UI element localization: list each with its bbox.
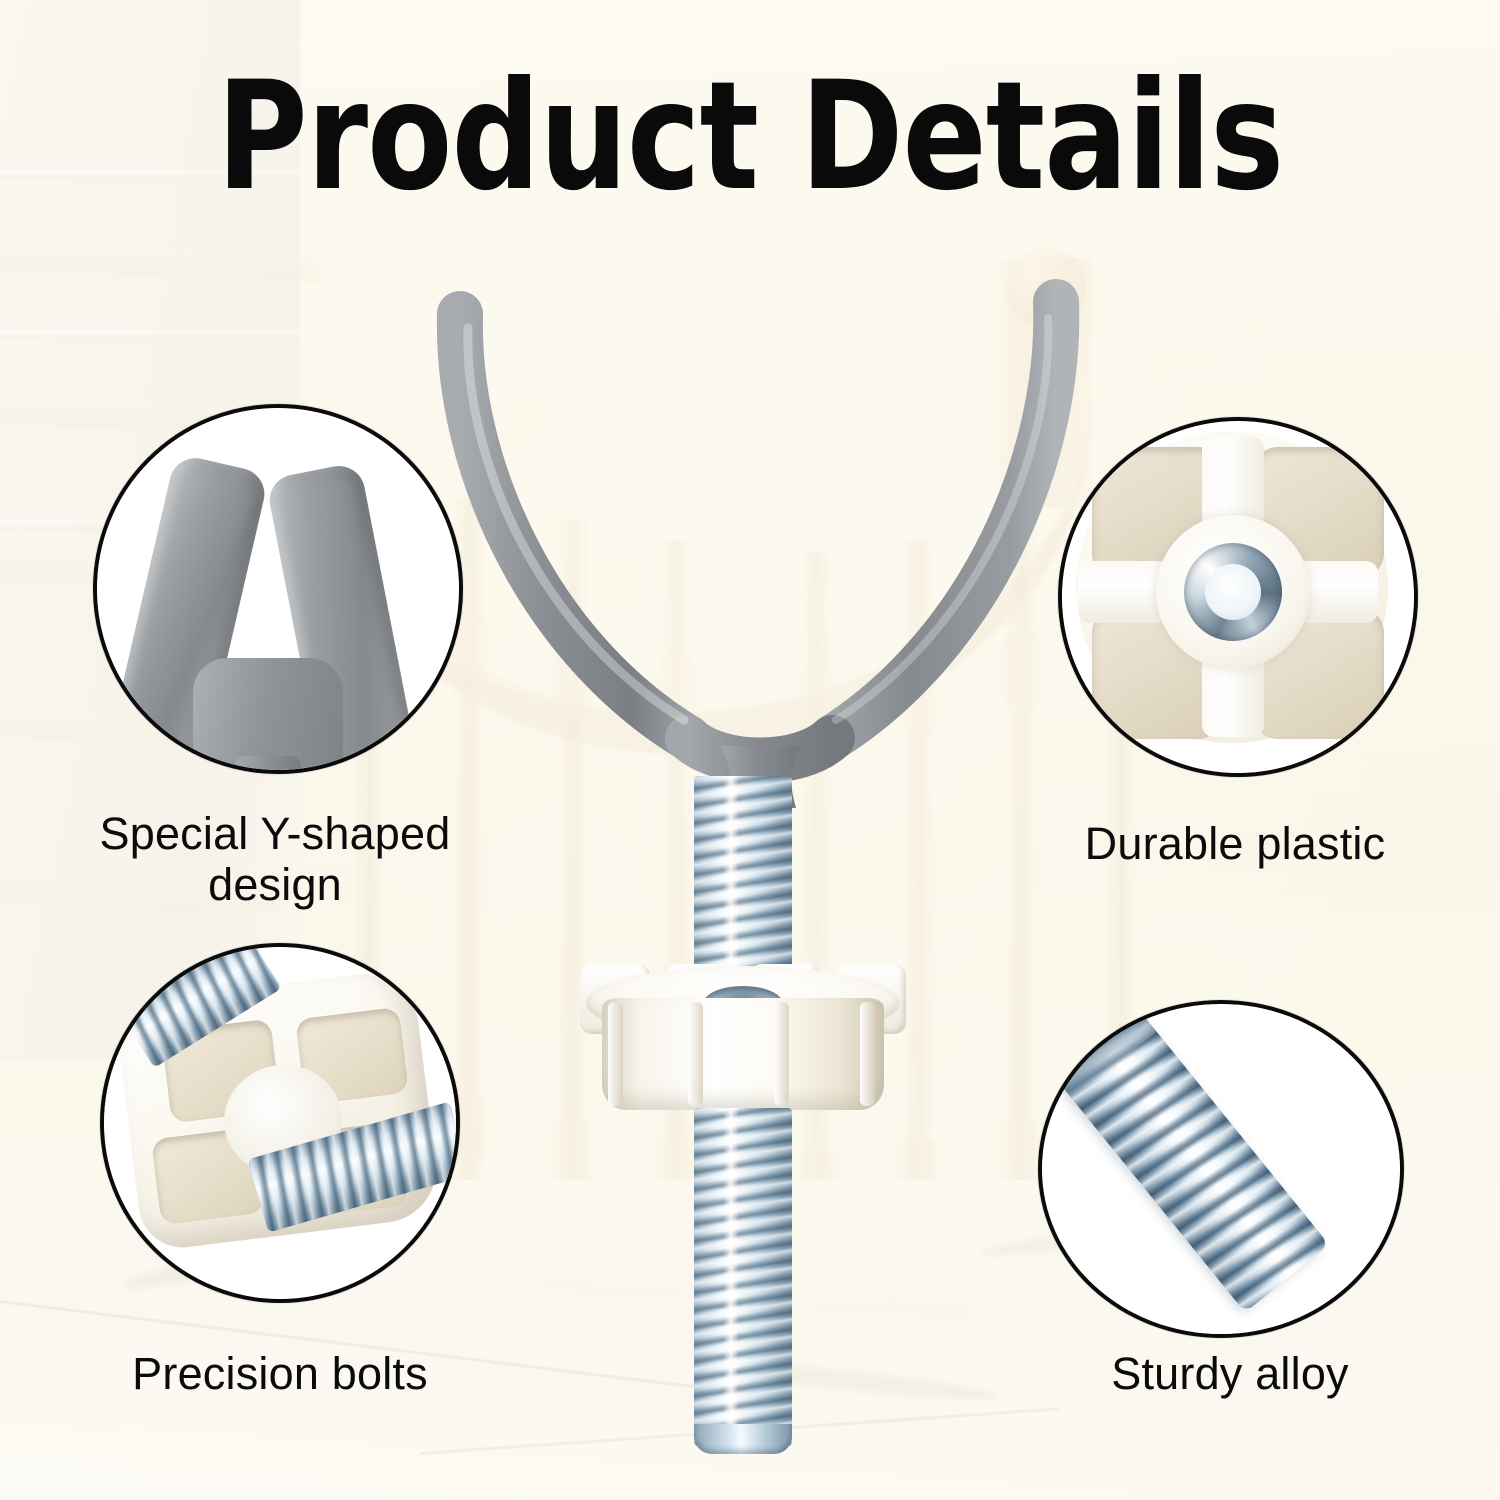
threaded-alloy-rod [1056,1011,1329,1312]
infographic-canvas: Product Details [0,0,1500,1500]
callout-circle-durable-plastic[interactable] [1058,417,1418,777]
callout-caption-sturdy-alloy: Sturdy alloy [1030,1348,1430,1399]
caption-line-2: design [50,859,500,910]
callout-image-knob-top [1062,421,1414,773]
callout-caption-y-shaped-design: Special Y-shaped design [50,808,500,911]
fork-junction [193,658,343,770]
knob-centre-bore [1205,564,1261,620]
callout-caption-durable-plastic: Durable plastic [1035,818,1435,869]
callout-image-y-fork [97,408,459,770]
callout-circle-precision-bolts[interactable] [100,943,460,1303]
fork-stem [235,756,301,770]
page-title: Product Details [60,62,1440,212]
callout-image-threaded-rod [1042,1004,1400,1334]
caption-line-1: Precision bolts [60,1348,500,1399]
callout-circle-y-shaped-design[interactable] [93,404,463,774]
callout-image-knob-bolt [104,947,456,1299]
callout-circle-sturdy-alloy[interactable] [1038,1000,1404,1338]
caption-line-1: Special Y-shaped [50,808,500,859]
caption-line-1: Sturdy alloy [1030,1348,1430,1399]
callout-caption-precision-bolts: Precision bolts [60,1348,500,1399]
caption-line-1: Durable plastic [1035,818,1435,869]
